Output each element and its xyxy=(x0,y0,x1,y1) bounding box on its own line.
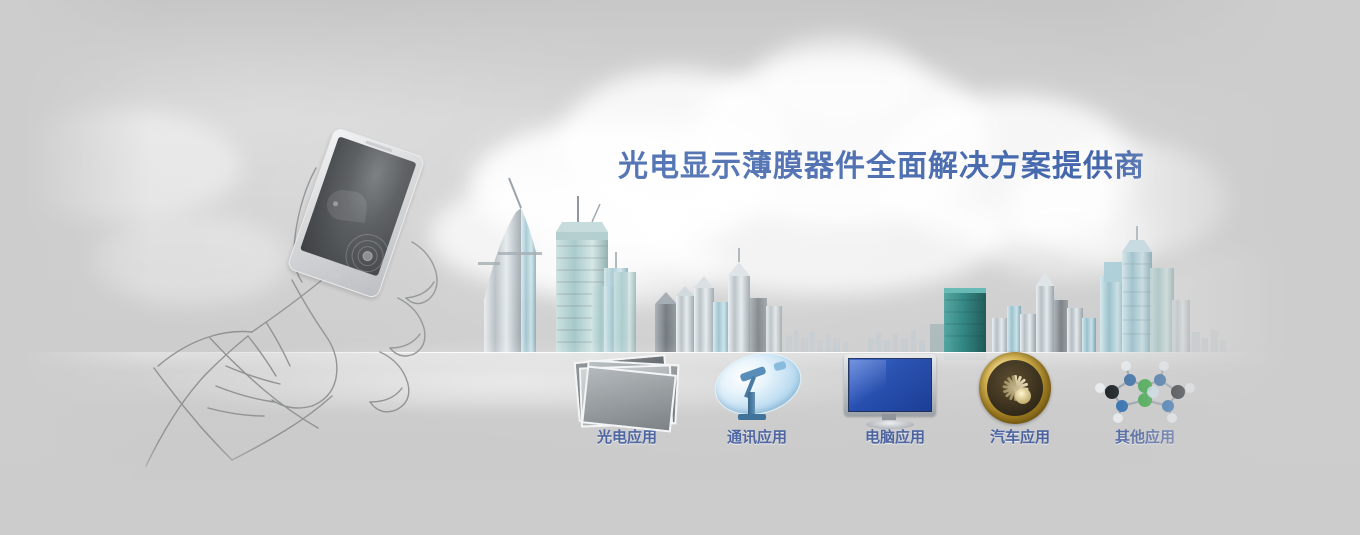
monitor-assembly xyxy=(844,354,936,416)
car-wheel-icon xyxy=(955,352,1085,422)
monitor-stand xyxy=(866,420,914,429)
dish-reflector xyxy=(708,344,808,424)
wheel-inner xyxy=(987,360,1043,416)
screen-glare xyxy=(850,360,886,408)
glass-panel xyxy=(581,365,677,432)
dish-base xyxy=(738,414,766,420)
application-item-automotive[interactable]: 汽车应用 xyxy=(955,352,1085,447)
wheel-hub xyxy=(1015,388,1031,404)
wheel-rim xyxy=(979,352,1051,424)
dish-assembly xyxy=(708,352,808,424)
application-item-optoelectronic[interactable]: 光电应用 xyxy=(562,352,692,447)
application-item-computer[interactable]: 电脑应用 xyxy=(830,352,960,447)
cursor-icon xyxy=(325,188,368,223)
satellite-dish-icon xyxy=(692,352,822,422)
bottom-edge-fade xyxy=(0,440,1360,535)
application-item-communication[interactable]: 通讯应用 xyxy=(692,352,822,447)
glass-panels-icon xyxy=(562,352,692,422)
computer-monitor-icon xyxy=(830,352,960,422)
page-title: 光电显示薄膜器件全面解决方案提供商 xyxy=(618,141,1145,185)
promo-banner: 光电显示薄膜器件全面解决方案提供商 光电应用 xyxy=(0,0,1360,535)
